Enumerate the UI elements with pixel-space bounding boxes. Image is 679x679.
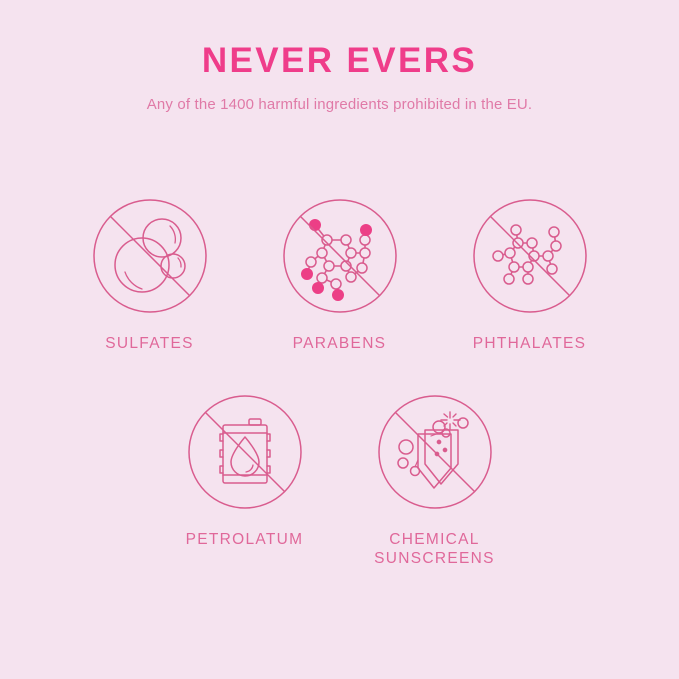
no-phthalates-molecule-icon [470, 196, 590, 316]
page-title: NEVER EVERS [0, 42, 679, 81]
header: NEVER EVERS Any of the 1400 harmful ingr… [0, 42, 679, 114]
icon-row-1: SULFATES [0, 196, 679, 353]
item-label: CHEMICAL SUNSCREENS [374, 530, 495, 569]
page-subtitle: Any of the 1400 harmful ingredients proh… [0, 95, 679, 115]
item-petrolatum: PETROLATUM [150, 392, 340, 569]
never-evers-infographic: NEVER EVERS Any of the 1400 harmful ingr… [0, 0, 679, 679]
item-label: SULFATES [105, 334, 194, 353]
icon-row-2: PETROLATUM [0, 392, 679, 569]
item-chemical-sunscreens: CHEMICAL SUNSCREENS [340, 392, 530, 569]
item-label: PARABENS [293, 334, 387, 353]
item-phthalates: PHTHALATES [435, 196, 625, 353]
no-petrolatum-barrel-icon [185, 392, 305, 512]
item-label: PHTHALATES [473, 334, 587, 353]
no-parabens-molecule-icon [280, 196, 400, 316]
item-label: PETROLATUM [186, 530, 304, 549]
no-sulfates-bubbles-icon [90, 196, 210, 316]
item-sulfates: SULFATES [55, 196, 245, 353]
no-chemical-sunscreens-shield-icon [375, 392, 495, 512]
item-parabens: PARABENS [245, 196, 435, 353]
